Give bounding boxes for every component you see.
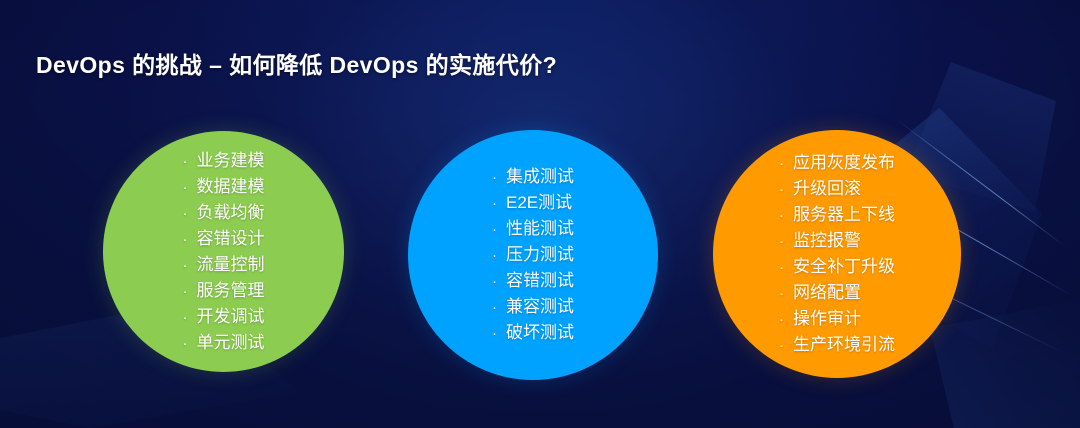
list-item-label: 网络配置 — [793, 280, 861, 305]
list-item-label: 单元测试 — [197, 330, 265, 355]
list-item-label: 负载均衡 — [197, 200, 265, 225]
bullet-dot-icon: · — [492, 321, 506, 346]
bullet-dot-icon: · — [779, 281, 793, 306]
bullet-dot-icon: · — [183, 201, 197, 226]
testing-item-list: ·集成测试·E2E测试·性能测试·压力测试·容错测试·兼容测试·破坏测试 — [492, 164, 574, 346]
list-item-label: 服务器上下线 — [793, 202, 895, 227]
list-item-label: 流量控制 — [197, 252, 265, 277]
bullet-dot-icon: · — [779, 333, 793, 358]
bullet-dot-icon: · — [779, 203, 793, 228]
list-item: ·服务管理 — [183, 278, 265, 304]
circle-development: ·业务建模·数据建模·负载均衡·容错设计·流量控制·服务管理·开发调试·单元测试 — [103, 131, 344, 372]
list-item-label: 开发调试 — [197, 304, 265, 329]
operations-item-list: ·应用灰度发布·升级回滚·服务器上下线·监控报警·安全补丁升级·网络配置·操作审… — [779, 150, 895, 358]
circle-operations: ·应用灰度发布·升级回滚·服务器上下线·监控报警·安全补丁升级·网络配置·操作审… — [713, 130, 961, 378]
list-item: ·数据建模 — [183, 174, 265, 200]
list-item-label: 安全补丁升级 — [793, 254, 895, 279]
list-item-label: 业务建模 — [197, 148, 265, 173]
bullet-dot-icon: · — [779, 255, 793, 280]
list-item-label: 升级回滚 — [793, 176, 861, 201]
list-item: ·容错设计 — [183, 226, 265, 252]
bullet-dot-icon: · — [183, 253, 197, 278]
bullet-dot-icon: · — [492, 217, 506, 242]
bullet-dot-icon: · — [779, 229, 793, 254]
bullet-dot-icon: · — [492, 191, 506, 216]
bullet-dot-icon: · — [183, 279, 197, 304]
list-item: ·压力测试 — [492, 242, 574, 268]
list-item: ·操作审计 — [779, 306, 895, 332]
list-item-label: 操作审计 — [793, 306, 861, 331]
list-item-label: 容错设计 — [197, 226, 265, 251]
list-item-label: 应用灰度发布 — [793, 150, 895, 175]
bullet-dot-icon: · — [492, 269, 506, 294]
bullet-dot-icon: · — [183, 227, 197, 252]
bullet-dot-icon: · — [183, 149, 197, 174]
list-item: ·升级回滚 — [779, 176, 895, 202]
list-item: ·安全补丁升级 — [779, 254, 895, 280]
list-item: ·单元测试 — [183, 330, 265, 356]
list-item: ·性能测试 — [492, 216, 574, 242]
list-item: ·破坏测试 — [492, 320, 574, 346]
list-item: ·网络配置 — [779, 280, 895, 306]
list-item: ·容错测试 — [492, 268, 574, 294]
list-item-label: 压力测试 — [506, 242, 574, 267]
list-item: ·开发调试 — [183, 304, 265, 330]
bullet-dot-icon: · — [779, 151, 793, 176]
list-item: ·监控报警 — [779, 228, 895, 254]
list-item: ·应用灰度发布 — [779, 150, 895, 176]
list-item: ·集成测试 — [492, 164, 574, 190]
list-item-label: 监控报警 — [793, 228, 861, 253]
list-item: ·流量控制 — [183, 252, 265, 278]
bullet-dot-icon: · — [183, 331, 197, 356]
list-item-label: 兼容测试 — [506, 294, 574, 319]
bullet-dot-icon: · — [779, 177, 793, 202]
circle-testing: ·集成测试·E2E测试·性能测试·压力测试·容错测试·兼容测试·破坏测试 — [408, 130, 658, 380]
list-item: ·兼容测试 — [492, 294, 574, 320]
list-item-label: 集成测试 — [506, 164, 574, 189]
list-item: ·业务建模 — [183, 148, 265, 174]
list-item-label: 生产环境引流 — [793, 332, 895, 357]
list-item: ·生产环境引流 — [779, 332, 895, 358]
bullet-dot-icon: · — [183, 175, 197, 200]
list-item-label: E2E测试 — [506, 190, 572, 215]
bullet-dot-icon: · — [492, 165, 506, 190]
list-item: ·服务器上下线 — [779, 202, 895, 228]
list-item-label: 服务管理 — [197, 278, 265, 303]
background-polygon-c — [930, 300, 1080, 428]
slide-title: DevOps 的挑战 – 如何降低 DevOps 的实施代价? — [36, 46, 557, 80]
development-item-list: ·业务建模·数据建模·负载均衡·容错设计·流量控制·服务管理·开发调试·单元测试 — [183, 148, 265, 356]
list-item-label: 容错测试 — [506, 268, 574, 293]
bullet-dot-icon: · — [779, 307, 793, 332]
list-item: ·负载均衡 — [183, 200, 265, 226]
list-item: ·E2E测试 — [492, 190, 574, 216]
bullet-dot-icon: · — [492, 295, 506, 320]
list-item-label: 性能测试 — [506, 216, 574, 241]
list-item-label: 破坏测试 — [506, 320, 574, 345]
slide-canvas: DevOps 的挑战 – 如何降低 DevOps 的实施代价? ·业务建模·数据… — [0, 0, 1080, 428]
list-item-label: 数据建模 — [197, 174, 265, 199]
bullet-dot-icon: · — [492, 243, 506, 268]
bullet-dot-icon: · — [183, 305, 197, 330]
